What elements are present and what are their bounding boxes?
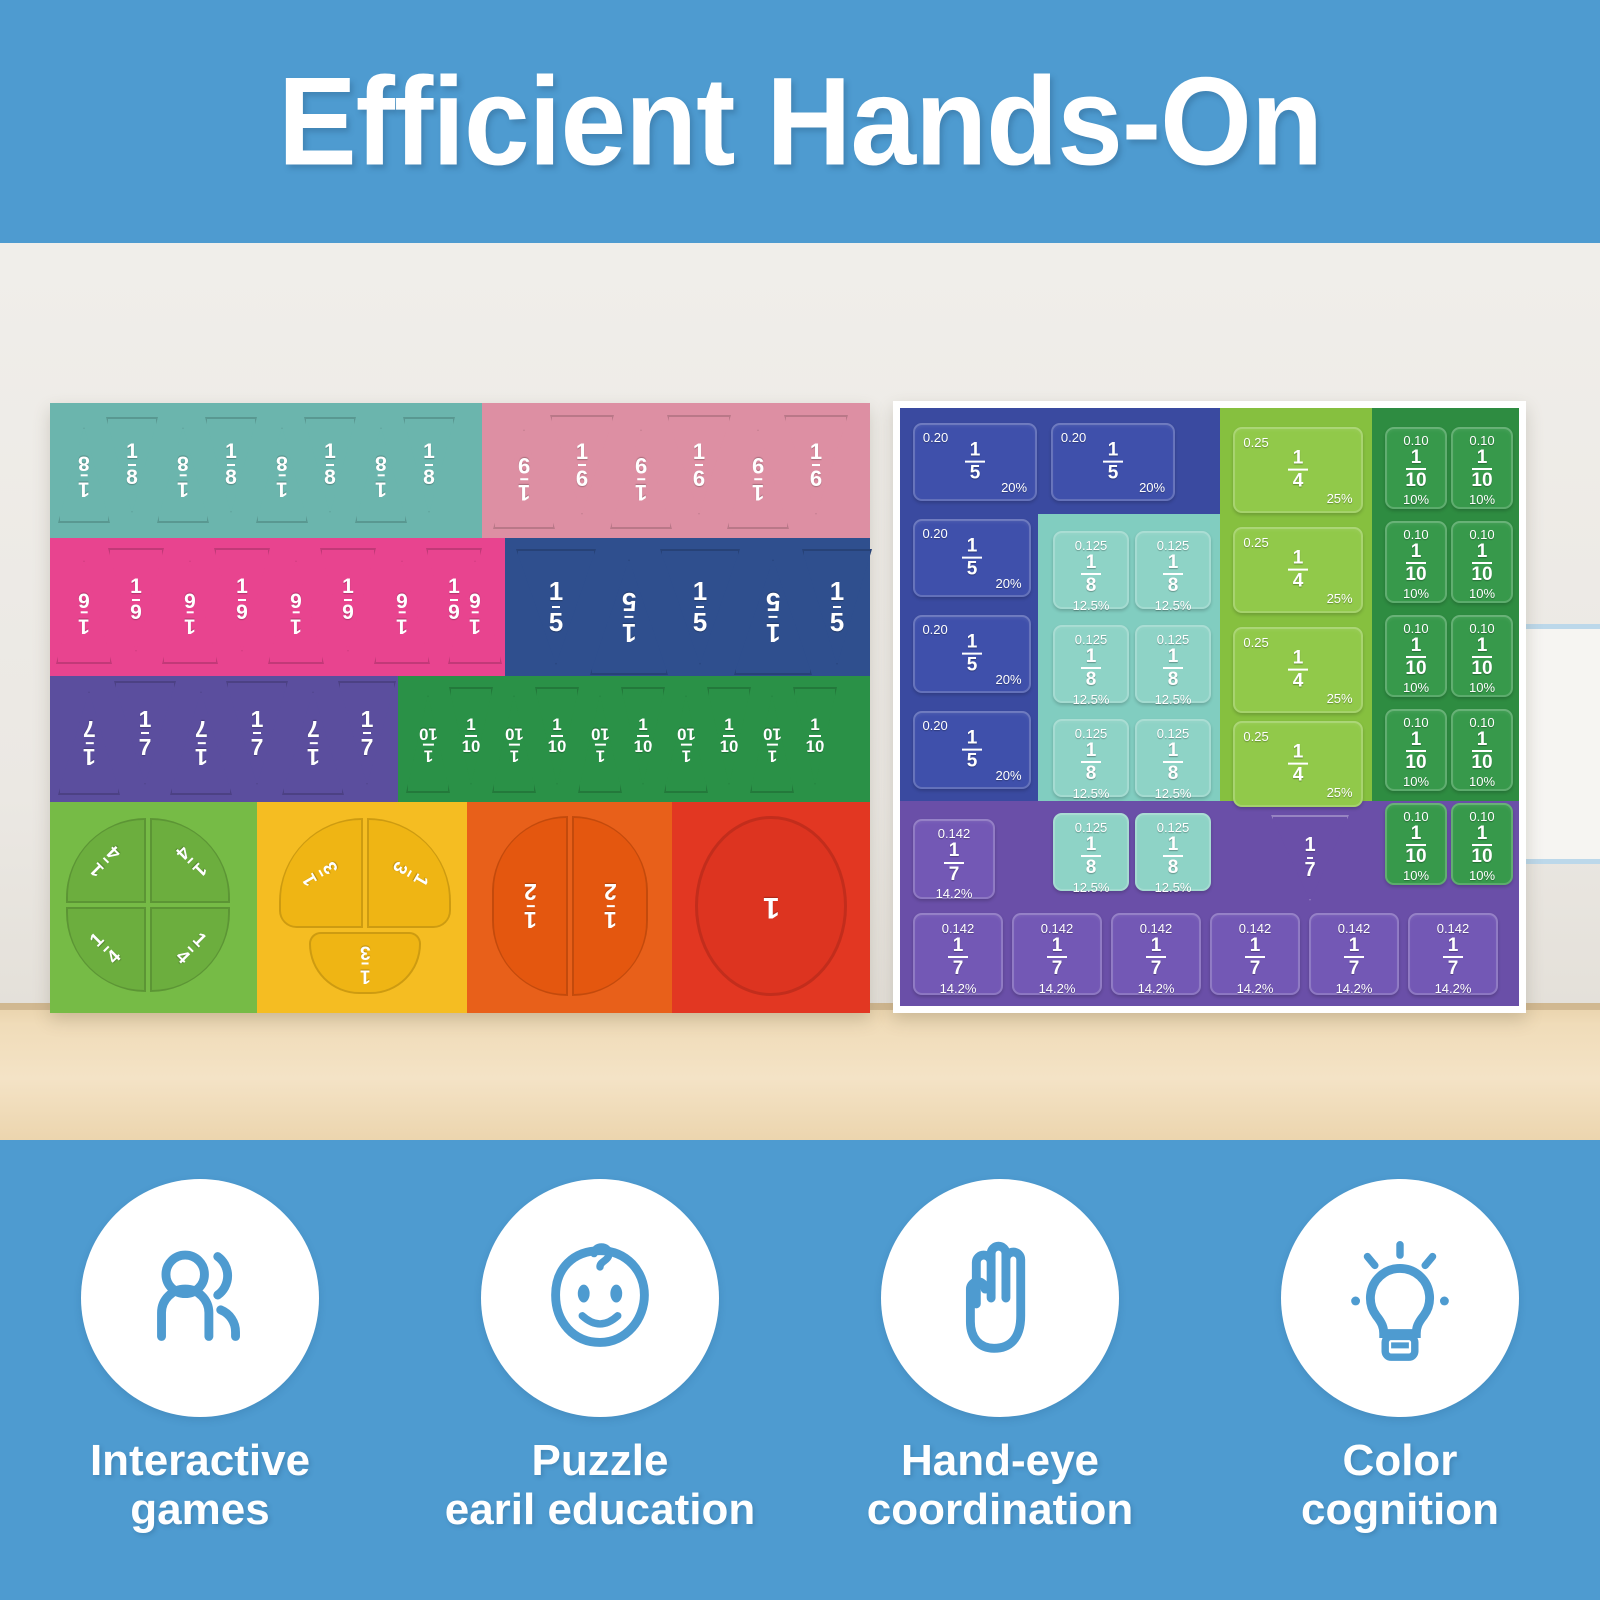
fraction-label: 16 bbox=[290, 589, 302, 635]
tile-tenth[interactable]: 0.10 110 10% bbox=[1451, 803, 1513, 885]
header-banner: Efficient Hands-On bbox=[0, 0, 1600, 243]
fraction-label: 15 bbox=[549, 579, 563, 635]
decimal-label: 0.10 bbox=[1451, 615, 1513, 636]
tile-eighth[interactable]: 0.125 18 12.5% bbox=[1053, 813, 1129, 891]
tile-quarter[interactable]: 0.25 14 25% bbox=[1233, 627, 1363, 713]
fraction-label: 18 bbox=[1053, 741, 1129, 784]
tile-tenth[interactable]: 0.10 110 10% bbox=[1451, 615, 1513, 697]
fraction-label: 18 bbox=[177, 452, 189, 498]
wedge-sixth[interactable]: 19 bbox=[727, 429, 789, 529]
wedge-seventh[interactable]: 17 bbox=[226, 681, 288, 785]
fraction-label: 18 bbox=[1053, 647, 1129, 690]
decimal-label: 0.125 bbox=[1053, 625, 1129, 647]
wedge-ninth[interactable]: 19 bbox=[320, 548, 376, 652]
fraction-label: 16 bbox=[810, 441, 822, 489]
percent-label: 14.2% bbox=[913, 886, 995, 901]
fraction-label: 14 bbox=[87, 931, 125, 969]
tile-tenth[interactable]: 0.10 110 10% bbox=[1451, 427, 1513, 509]
fraction-label: 19 bbox=[635, 455, 647, 503]
fraction-label: 17 bbox=[251, 708, 264, 758]
decimal-label: 0.25 bbox=[1243, 435, 1268, 450]
percent-label: 14.2% bbox=[1111, 981, 1201, 996]
fraction-label: 15 bbox=[913, 729, 1031, 772]
wedge-tenth[interactable]: 110 bbox=[578, 695, 622, 793]
percent-label: 14.2% bbox=[1012, 981, 1102, 996]
fraction-label: 19 bbox=[130, 577, 142, 623]
fraction-label: 18 bbox=[1053, 835, 1129, 878]
wedge-fifth[interactable]: 15 bbox=[734, 559, 812, 675]
wedge-sixth[interactable]: 19 bbox=[493, 429, 555, 529]
tile-eighth[interactable]: 0.125 18 12.5% bbox=[1053, 719, 1129, 797]
percent-label: 10% bbox=[1451, 586, 1513, 601]
tile-eighth[interactable]: 0.125 18 12.5% bbox=[1135, 813, 1211, 891]
product-marketing-image: Efficient Hands-On bbox=[0, 0, 1600, 1600]
tile-quarter[interactable]: 0.25 14 25% bbox=[1233, 527, 1363, 613]
decimal-label: 0.142 bbox=[1012, 913, 1102, 936]
fraction-label: 110 bbox=[1385, 636, 1447, 679]
fraction-label: 13 bbox=[360, 942, 371, 984]
wedge-ninth[interactable]: 16 bbox=[448, 560, 502, 664]
tile-seventh[interactable]: 0.142 17 14.2% bbox=[913, 819, 995, 899]
percent-label: 10% bbox=[1451, 680, 1513, 695]
fraction-label: 15 bbox=[830, 579, 844, 635]
fraction-label: 18 bbox=[126, 442, 138, 488]
wedge-eighth[interactable]: 18 bbox=[205, 417, 257, 513]
percent-label: 20% bbox=[996, 672, 1022, 687]
decimal-label: 0.10 bbox=[1451, 803, 1513, 824]
tile-eighth[interactable]: 0.125 18 12.5% bbox=[1135, 625, 1211, 703]
fraction-decimal-percent-board[interactable]: 0.20 15 20% 0.20 15 20% 0.20 15 20% 0.20… bbox=[893, 401, 1526, 1013]
tile-tenth[interactable]: 0.10 110 10% bbox=[1385, 803, 1447, 885]
fraction-label: 19 bbox=[752, 455, 764, 503]
percent-label: 14.2% bbox=[913, 981, 1003, 996]
feature-icon-baby bbox=[481, 1179, 719, 1417]
fraction-label: 110 bbox=[720, 717, 739, 756]
wedge-tenth[interactable]: 110 bbox=[535, 687, 579, 785]
fraction-label: 110 bbox=[1385, 542, 1447, 585]
tile-eighth[interactable]: 0.125 18 12.5% bbox=[1135, 719, 1211, 797]
percent-label: 14.2% bbox=[1309, 981, 1399, 996]
tile-seventh[interactable]: 0.142 17 14.2% bbox=[1012, 913, 1102, 995]
fraction-label: 15 bbox=[913, 441, 1037, 484]
wedge-tenth[interactable]: 110 bbox=[707, 687, 751, 785]
fraction-label: 17 bbox=[361, 708, 374, 758]
fraction-label: 15 bbox=[1051, 441, 1175, 484]
decimal-label: 0.142 bbox=[1309, 913, 1399, 936]
wedge-sixth[interactable]: 19 bbox=[610, 429, 672, 529]
circle-halves[interactable]: 12 12 bbox=[492, 816, 650, 996]
percent-label: 25% bbox=[1327, 491, 1353, 506]
fraction-label: 17 bbox=[913, 936, 1003, 979]
fraction-label: 110 bbox=[1385, 730, 1447, 773]
fraction-label: 110 bbox=[1451, 448, 1513, 491]
wedge-seventh-loose[interactable]: 17 bbox=[1271, 815, 1349, 901]
fraction-label: 19 bbox=[342, 577, 354, 623]
wedge-fifth[interactable]: 15 bbox=[660, 549, 740, 665]
decimal-label: 0.10 bbox=[1385, 709, 1447, 730]
decimal-label: 0.142 bbox=[913, 913, 1003, 936]
fraction-label: 14 bbox=[171, 931, 209, 969]
fraction-label: 17 bbox=[1210, 936, 1300, 979]
baby-face-icon bbox=[526, 1224, 674, 1372]
fraction-label: 17 bbox=[307, 718, 320, 768]
fraction-label: 15 bbox=[622, 589, 636, 645]
fraction-label: 110 bbox=[634, 717, 653, 756]
fraction-label: 17 bbox=[1304, 836, 1315, 880]
wedge-eighth[interactable]: 18 bbox=[58, 427, 110, 523]
wedge-eighth[interactable]: 18 bbox=[403, 417, 455, 513]
wedge-seventh[interactable]: 17 bbox=[282, 691, 344, 795]
fraction-label: 17 bbox=[913, 841, 995, 884]
decimal-label: 0.10 bbox=[1385, 427, 1447, 448]
tile-eighth[interactable]: 0.125 18 12.5% bbox=[1135, 531, 1211, 609]
fraction-label: 110 bbox=[1451, 824, 1513, 867]
percent-label: 12.5% bbox=[1135, 880, 1211, 895]
fraction-label: 17 bbox=[1408, 936, 1498, 979]
fraction-label: 12 bbox=[524, 881, 537, 931]
fraction-label: 19 bbox=[236, 577, 248, 623]
fraction-label: 14 bbox=[1233, 743, 1363, 786]
percent-label: 12.5% bbox=[1053, 880, 1129, 895]
fraction-label: 14 bbox=[1233, 449, 1363, 492]
fraction-label: 16 bbox=[576, 441, 588, 489]
percent-label: 12.5% bbox=[1135, 598, 1211, 613]
wedge-ninth[interactable]: 16 bbox=[374, 560, 430, 664]
fraction-label: 14 bbox=[171, 842, 209, 880]
wedge-ninth[interactable]: 19 bbox=[108, 548, 164, 652]
circle-whole[interactable]: 1 bbox=[695, 816, 847, 996]
tile-fifth[interactable]: 0.20 15 20% bbox=[1051, 423, 1175, 501]
percent-label: 10% bbox=[1385, 492, 1447, 507]
fraction-label: 110 bbox=[419, 725, 438, 764]
people-icon bbox=[126, 1224, 274, 1372]
fraction-label: 17 bbox=[1309, 936, 1399, 979]
lightbulb-icon bbox=[1326, 1224, 1474, 1372]
feature-label-4: Colorcognition bbox=[1210, 1436, 1590, 1535]
wedge-ninth[interactable]: 16 bbox=[56, 560, 112, 664]
percent-label: 12.5% bbox=[1053, 786, 1129, 801]
decimal-label: 0.25 bbox=[1243, 729, 1268, 744]
tile-eighth[interactable]: 0.125 18 12.5% bbox=[1053, 531, 1129, 609]
decimal-label: 0.142 bbox=[913, 819, 995, 841]
percent-label: 20% bbox=[996, 576, 1022, 591]
tile-fifth[interactable]: 0.20 15 20% bbox=[913, 711, 1031, 789]
fraction-label: 16 bbox=[184, 589, 196, 635]
fraction-label: 110 bbox=[806, 717, 825, 756]
decimal-label: 0.25 bbox=[1243, 635, 1268, 650]
fraction-label: 18 bbox=[1053, 553, 1129, 596]
decimal-label: 0.125 bbox=[1135, 625, 1211, 647]
tile-tenth[interactable]: 0.10 110 10% bbox=[1385, 427, 1447, 509]
fraction-label: 12 bbox=[604, 881, 617, 931]
tile-tenth[interactable]: 0.10 110 10% bbox=[1451, 521, 1513, 603]
percent-label: 14.2% bbox=[1408, 981, 1498, 996]
circle-quarters[interactable]: 14 14 14 14 bbox=[66, 818, 232, 994]
fraction-label: 18 bbox=[225, 442, 237, 488]
percent-label: 10% bbox=[1385, 586, 1447, 601]
feature-strip: Interactivegames Puzzleearil education H… bbox=[0, 1140, 1600, 1600]
desk-surface bbox=[0, 1003, 1600, 1140]
fraction-label: 18 bbox=[1135, 553, 1211, 596]
wedge-ninth[interactable]: 16 bbox=[162, 560, 218, 664]
tile-quarter[interactable]: 0.25 14 25% bbox=[1233, 721, 1363, 807]
fraction-label: 18 bbox=[276, 452, 288, 498]
wedge-tenth[interactable]: 110 bbox=[793, 687, 837, 785]
percent-label: 20% bbox=[1001, 480, 1027, 495]
fraction-label: 110 bbox=[1385, 824, 1447, 867]
percent-label: 25% bbox=[1327, 691, 1353, 706]
fraction-label: 18 bbox=[324, 442, 336, 488]
feature-label-3: Hand-eyecoordination bbox=[810, 1436, 1190, 1535]
fraction-label: 14 bbox=[87, 842, 125, 880]
fraction-label: 17 bbox=[1012, 936, 1102, 979]
percent-label: 20% bbox=[996, 768, 1022, 783]
wedge-eighth[interactable]: 18 bbox=[256, 427, 308, 523]
tile-tenth[interactable]: 0.10 110 10% bbox=[1385, 615, 1447, 697]
fraction-label: 110 bbox=[548, 717, 567, 756]
fraction-label: 110 bbox=[677, 725, 696, 764]
fraction-label: 18 bbox=[1135, 835, 1211, 878]
fraction-label: 110 bbox=[1451, 542, 1513, 585]
tile-tenth[interactable]: 0.10 110 10% bbox=[1385, 521, 1447, 603]
decimal-label: 0.125 bbox=[1135, 719, 1211, 741]
wedge-seventh[interactable]: 17 bbox=[170, 691, 232, 795]
decimal-label: 0.125 bbox=[1135, 813, 1211, 835]
decimal-label: 0.25 bbox=[1243, 535, 1268, 550]
wedge-fifth[interactable]: 15 bbox=[802, 549, 872, 665]
fraction-label: 18 bbox=[375, 452, 387, 498]
fraction-label: 18 bbox=[1135, 647, 1211, 690]
product-photo: 18 18 18 18 18 18 18 18 19 16 19 bbox=[0, 243, 1600, 1140]
fraction-label: 17 bbox=[139, 708, 152, 758]
wedge-eighth[interactable]: 18 bbox=[157, 427, 209, 523]
fraction-label: 18 bbox=[1135, 741, 1211, 784]
tile-tenth[interactable]: 0.10 110 10% bbox=[1451, 709, 1513, 791]
fraction-label: 18 bbox=[423, 442, 435, 488]
wedge-tenth[interactable]: 110 bbox=[492, 695, 536, 793]
feature-label-2: Puzzleearil education bbox=[410, 1436, 790, 1535]
fraction-label: 15 bbox=[693, 579, 707, 635]
feature-icon-hand bbox=[881, 1179, 1119, 1417]
wedge-ninth[interactable]: 19 bbox=[214, 548, 270, 652]
percent-label: 10% bbox=[1385, 868, 1447, 883]
wedge-seventh[interactable]: 17 bbox=[58, 691, 120, 795]
hand-icon bbox=[926, 1224, 1074, 1372]
decimal-label: 0.125 bbox=[1053, 813, 1129, 835]
fraction-label: 110 bbox=[505, 725, 524, 764]
fraction-label: 17 bbox=[1111, 936, 1201, 979]
wedge-ninth[interactable]: 16 bbox=[268, 560, 324, 664]
feature-icon-people bbox=[81, 1179, 319, 1417]
percent-label: 10% bbox=[1385, 680, 1447, 695]
wedge-tenth[interactable]: 110 bbox=[449, 687, 493, 785]
decimal-label: 0.125 bbox=[1053, 531, 1129, 553]
tile-tenth[interactable]: 0.10 110 10% bbox=[1385, 709, 1447, 791]
wedge-fifth[interactable]: 15 bbox=[590, 559, 668, 675]
fraction-label: 110 bbox=[462, 717, 481, 756]
wedge-eighth[interactable]: 18 bbox=[355, 427, 407, 523]
wedge-sixth[interactable]: 16 bbox=[667, 415, 731, 515]
wedge-sixth[interactable]: 16 bbox=[784, 415, 848, 515]
tile-fifth[interactable]: 0.20 15 20% bbox=[913, 615, 1031, 693]
fraction-label: 15 bbox=[766, 589, 780, 645]
decimal-label: 0.10 bbox=[1385, 615, 1447, 636]
wedge-tenth[interactable]: 110 bbox=[621, 687, 665, 785]
fraction-label: 110 bbox=[1451, 636, 1513, 679]
decimal-label: 0.10 bbox=[1451, 521, 1513, 542]
page-title: Efficient Hands-On bbox=[278, 49, 1322, 193]
feature-label-1: Interactivegames bbox=[10, 1436, 390, 1535]
decimal-label: 0.10 bbox=[1451, 709, 1513, 730]
fraction-label: 14 bbox=[1233, 649, 1363, 692]
fraction-label: 19 bbox=[518, 455, 530, 503]
percent-label: 14.2% bbox=[1210, 981, 1300, 996]
tile-seventh[interactable]: 0.142 17 14.2% bbox=[1111, 913, 1201, 995]
decimal-label: 0.142 bbox=[1210, 913, 1300, 936]
fraction-circles-board[interactable]: 18 18 18 18 18 18 18 18 19 16 19 bbox=[50, 403, 870, 1013]
percent-label: 20% bbox=[1139, 480, 1165, 495]
fraction-label: 13 bbox=[300, 858, 342, 888]
wedge-eighth[interactable]: 18 bbox=[304, 417, 356, 513]
fraction-label: 17 bbox=[83, 718, 96, 768]
percent-label: 12.5% bbox=[1053, 692, 1129, 707]
fraction-label: 17 bbox=[195, 718, 208, 768]
fraction-label: 1 bbox=[763, 892, 780, 921]
percent-label: 25% bbox=[1327, 591, 1353, 606]
percent-label: 25% bbox=[1327, 785, 1353, 800]
decimal-label: 0.142 bbox=[1111, 913, 1201, 936]
decimal-label: 0.125 bbox=[1135, 531, 1211, 553]
tile-seventh[interactable]: 0.142 17 14.2% bbox=[913, 913, 1003, 995]
tile-seventh[interactable]: 0.142 17 14.2% bbox=[1309, 913, 1399, 995]
wedge-tenth[interactable]: 110 bbox=[750, 695, 794, 793]
circle-thirds[interactable]: 13 13 13 bbox=[279, 818, 451, 994]
decimal-label: 0.10 bbox=[1451, 427, 1513, 448]
fraction-label: 15 bbox=[913, 537, 1031, 580]
percent-label: 10% bbox=[1451, 774, 1513, 789]
decimal-label: 0.10 bbox=[1385, 521, 1447, 542]
percent-label: 10% bbox=[1385, 774, 1447, 789]
fraction-label: 110 bbox=[763, 725, 782, 764]
tile-seventh[interactable]: 0.142 17 14.2% bbox=[1408, 913, 1498, 995]
wedge-tenth[interactable]: 110 bbox=[664, 695, 708, 793]
percent-label: 10% bbox=[1451, 492, 1513, 507]
percent-label: 12.5% bbox=[1135, 786, 1211, 801]
wedge-seventh[interactable]: 17 bbox=[338, 681, 396, 785]
decimal-label: 0.142 bbox=[1408, 913, 1498, 936]
tile-seventh[interactable]: 0.142 17 14.2% bbox=[1210, 913, 1300, 995]
fraction-label: 110 bbox=[1451, 730, 1513, 773]
fraction-label: 15 bbox=[913, 633, 1031, 676]
fraction-label: 16 bbox=[469, 589, 481, 635]
percent-label: 12.5% bbox=[1135, 692, 1211, 707]
wedge-seventh[interactable]: 17 bbox=[114, 681, 176, 785]
wedge-tenth[interactable]: 110 bbox=[406, 695, 450, 793]
percent-label: 12.5% bbox=[1053, 598, 1129, 613]
fraction-label: 110 bbox=[591, 725, 610, 764]
fraction-label: 110 bbox=[1385, 448, 1447, 491]
fraction-label: 18 bbox=[78, 452, 90, 498]
decimal-label: 0.125 bbox=[1053, 719, 1129, 741]
decimal-label: 0.10 bbox=[1385, 803, 1447, 824]
fraction-label: 16 bbox=[78, 589, 90, 635]
wedge-eighth[interactable]: 18 bbox=[106, 417, 158, 513]
fraction-label: 16 bbox=[396, 589, 408, 635]
tile-fifth[interactable]: 0.20 15 20% bbox=[913, 423, 1037, 501]
tile-quarter[interactable]: 0.25 14 25% bbox=[1233, 427, 1363, 513]
wedge-sixth[interactable]: 16 bbox=[550, 415, 614, 515]
feature-icon-bulb bbox=[1281, 1179, 1519, 1417]
tile-fifth[interactable]: 0.20 15 20% bbox=[913, 519, 1031, 597]
fraction-label: 13 bbox=[388, 858, 430, 888]
tile-eighth[interactable]: 0.125 18 12.5% bbox=[1053, 625, 1129, 703]
fraction-label: 14 bbox=[1233, 549, 1363, 592]
wedge-fifth[interactable]: 15 bbox=[516, 549, 596, 665]
fraction-label: 16 bbox=[693, 441, 705, 489]
percent-label: 10% bbox=[1451, 868, 1513, 883]
